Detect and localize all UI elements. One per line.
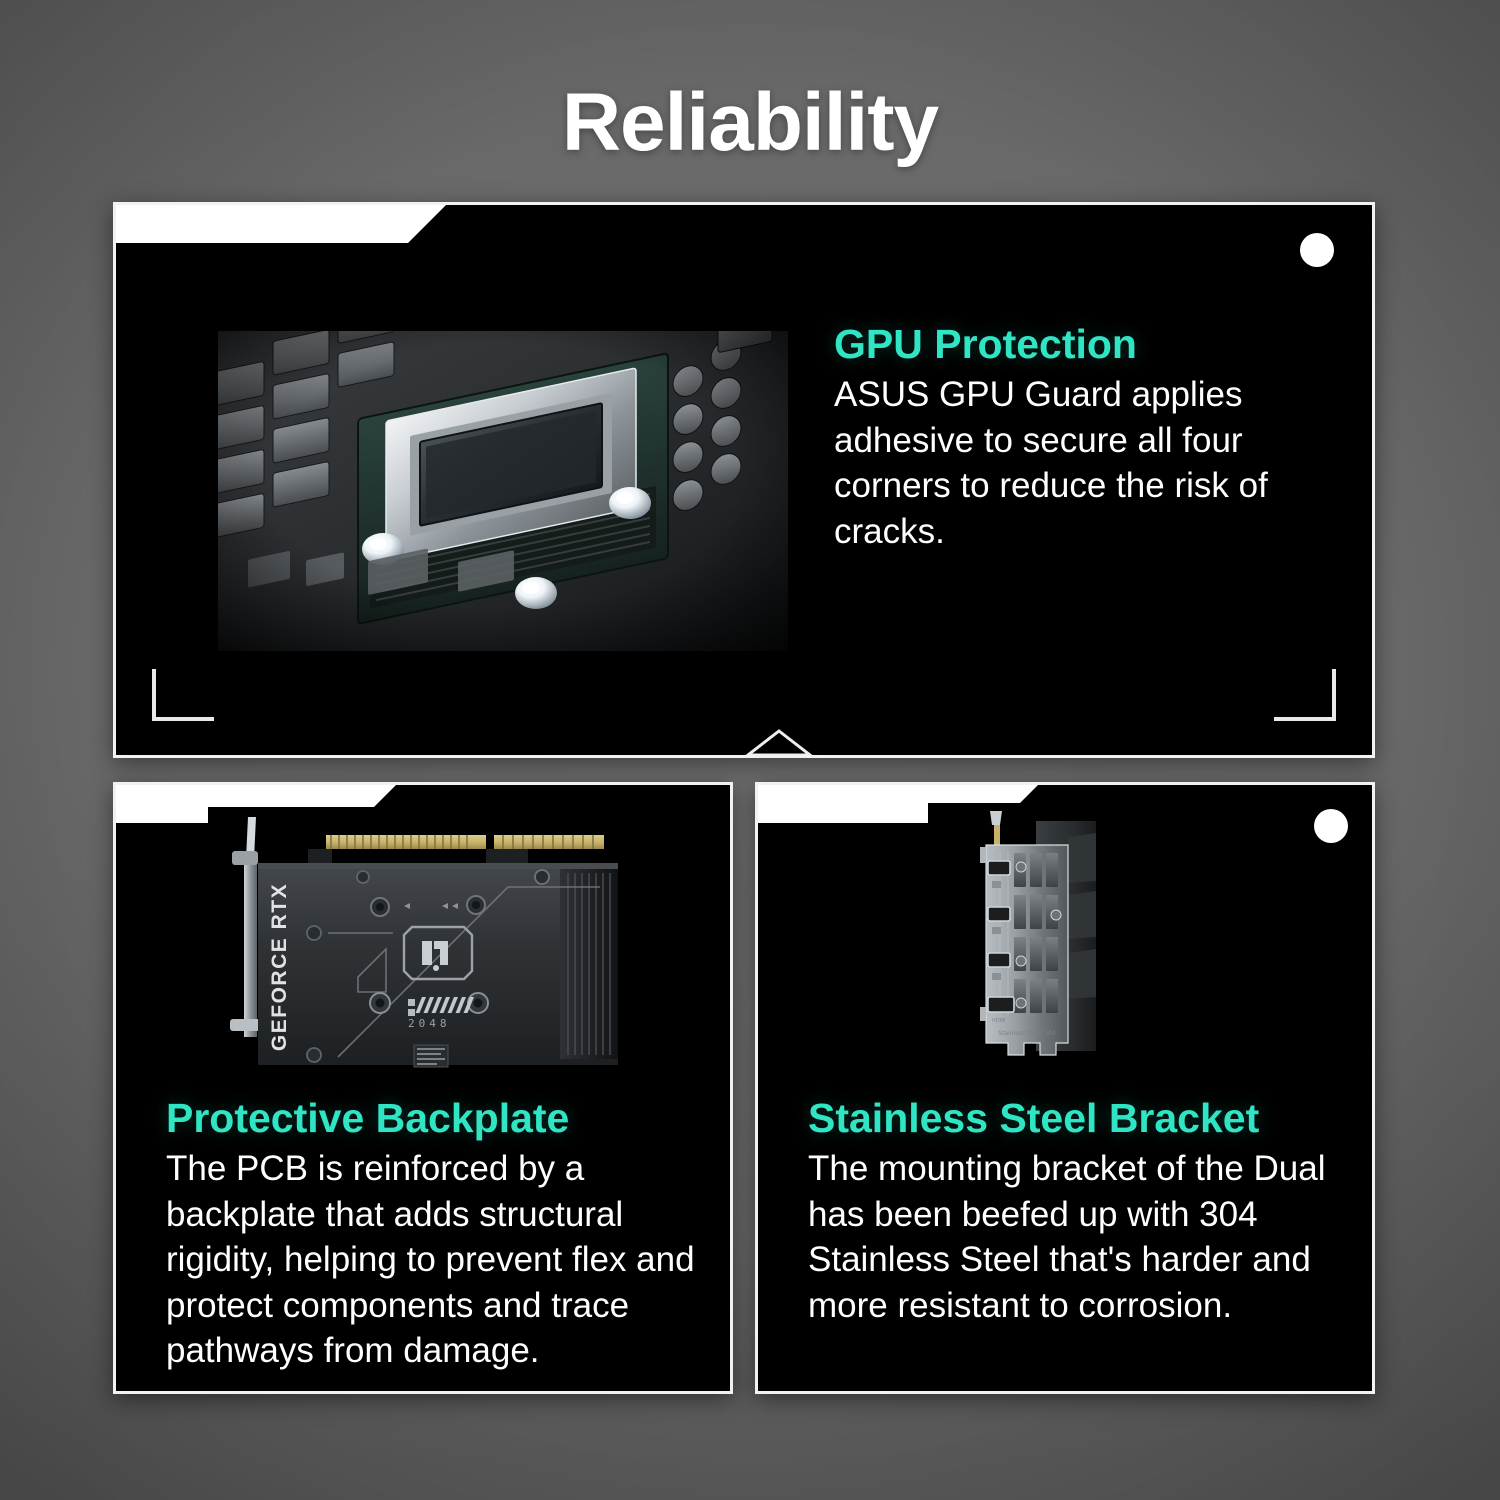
backplate-text: Protective Backplate The PCB is reinforc…	[166, 1097, 706, 1374]
bracket-material-label: Stainless Steel 304	[998, 1030, 1056, 1037]
corner-dot-icon	[1300, 233, 1334, 267]
svg-text:GEFORCE RTX: GEFORCE RTX	[268, 883, 291, 1051]
backplate-image: 2048 GEFORCE RTX	[208, 807, 724, 1087]
io-bracket-image: HDMI Stainless Steel 304	[928, 803, 1158, 1095]
panel-gpu-protection: GPU Protection ASUS GPU Guard applies ad…	[113, 202, 1375, 758]
page-title: Reliability	[0, 82, 1500, 164]
feature-body: The mounting bracket of the Dual has bee…	[808, 1146, 1348, 1328]
feature-body: ASUS GPU Guard applies adhesive to secur…	[834, 372, 1274, 554]
gpu-die-image	[218, 331, 788, 651]
svg-text:HDMI: HDMI	[992, 1018, 1005, 1024]
corner-bracket-right-icon	[1274, 669, 1336, 721]
corner-bracket-left-icon	[152, 669, 214, 721]
feature-body: The PCB is reinforced by a backplate tha…	[166, 1146, 706, 1374]
marketing-infographic: Reliability	[0, 0, 1500, 1500]
panel-stainless-steel-bracket: HDMI Stainless Steel 304 Stainless Steel…	[755, 782, 1375, 1394]
svg-text:2048: 2048	[408, 1017, 451, 1030]
bracket-text: Stainless Steel Bracket The mounting bra…	[808, 1097, 1348, 1328]
gpu-protection-text: GPU Protection ASUS GPU Guard applies ad…	[834, 323, 1274, 554]
feature-heading: Stainless Steel Bracket	[808, 1097, 1348, 1140]
panel-protective-backplate: 2048 GEFORCE RTX Protective Backplat	[113, 782, 733, 1394]
feature-heading: GPU Protection	[834, 323, 1274, 366]
feature-heading: Protective Backplate	[166, 1097, 706, 1140]
corner-dot-icon	[1314, 809, 1348, 843]
panel-header-bar	[116, 205, 446, 243]
